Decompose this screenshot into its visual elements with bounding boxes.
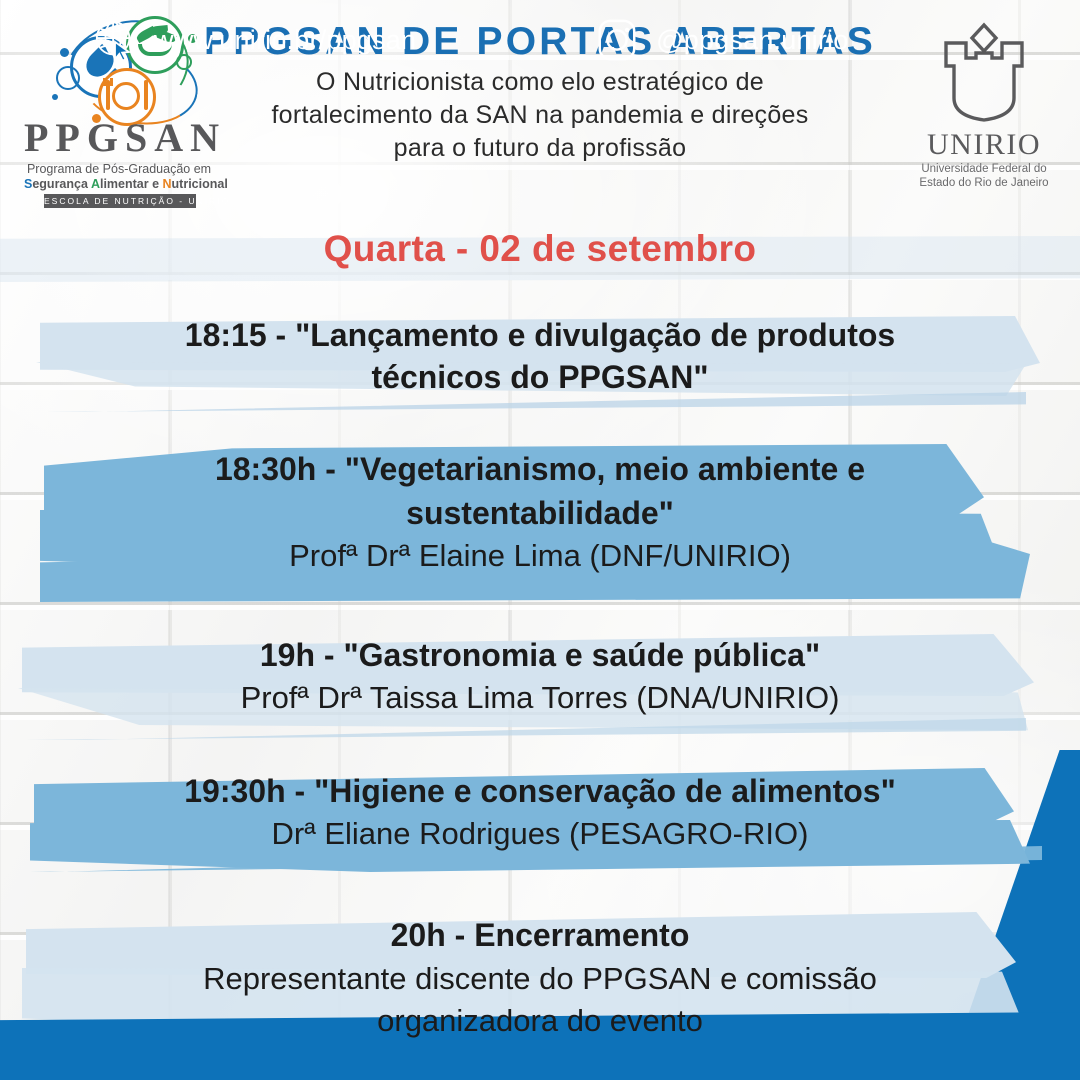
schedule-item-title-line-1: 18:30h - "Vegetarianismo, meio ambiente … bbox=[0, 448, 1080, 492]
decorative-circle-icon bbox=[56, 66, 80, 90]
schedule-item-title-line-2: sustentabilidade" bbox=[0, 492, 1080, 536]
globe-cursor-icon bbox=[92, 17, 138, 63]
fork-tines-icon bbox=[103, 78, 113, 86]
schedule-list: 18:15 - "Lançamento e divulgação de prod… bbox=[0, 300, 1080, 1052]
schedule-item-speaker: Profª Drª Elaine Lima (DNF/UNIRIO) bbox=[0, 535, 1080, 577]
ppgsan-logo-subtitle-2: Segurança Alimentar e Nutricional bbox=[24, 177, 214, 191]
schedule-item-title-line-2: técnicos do PPGSAN" bbox=[0, 356, 1080, 398]
schedule-item-text: 19:30h - "Higiene e conservação de alime… bbox=[0, 762, 1080, 854]
event-poster: PPGSAN Programa de Pós-Graduação em Segu… bbox=[0, 0, 1080, 1080]
page-subtitle-line-2: fortalecimento da SAN na pandemia e dire… bbox=[185, 99, 895, 132]
schedule-item-title-line-1: 19:30h - "Higiene e conservação de alime… bbox=[0, 770, 1080, 813]
schedule-item: 19:30h - "Higiene e conservação de alime… bbox=[0, 762, 1080, 882]
schedule-item-speaker: Drª Eliane Rodrigues (PESAGRO-RIO) bbox=[0, 813, 1080, 855]
schedule-item-speaker-line-2: organizadora do evento bbox=[0, 1000, 1080, 1042]
page-subtitle: O Nutricionista como elo estratégico de … bbox=[185, 66, 895, 165]
schedule-item-text: 20h - Encerramento Representante discent… bbox=[0, 902, 1080, 1042]
unirio-logo-subtitle: Universidade Federal do Estado do Rio de… bbox=[904, 162, 1064, 191]
schedule-item-title-line-1: 20h - Encerramento bbox=[0, 914, 1080, 958]
plate-icon bbox=[112, 82, 140, 110]
schedule-item-speaker: Profª Drª Taissa Lima Torres (DNA/UNIRIO… bbox=[0, 677, 1080, 719]
schedule-item: 19h - "Gastronomia e saúde pública" Prof… bbox=[0, 626, 1080, 748]
knife-icon bbox=[144, 80, 148, 110]
schedule-item: 18:30h - "Vegetarianismo, meio ambiente … bbox=[0, 434, 1080, 602]
footer-contacts: www.unirio.br/ppgsan @ppgsan.unirio bbox=[0, 12, 1080, 68]
schedule-item-text: 19h - "Gastronomia e saúde pública" Prof… bbox=[0, 626, 1080, 718]
page-subtitle-line-1: O Nutricionista como elo estratégico de bbox=[185, 66, 895, 99]
schedule-item: 18:15 - "Lançamento e divulgação de prod… bbox=[0, 300, 1080, 418]
schedule-item-text: 18:30h - "Vegetarianismo, meio ambiente … bbox=[0, 434, 1080, 577]
schedule-item-text: 18:15 - "Lançamento e divulgação de prod… bbox=[0, 300, 1080, 398]
instagram-icon bbox=[594, 17, 640, 63]
schedule-item-speaker-line-1: Representante discente do PPGSAN e comis… bbox=[0, 958, 1080, 1000]
instagram-handle: @ppgsan.unirio bbox=[656, 25, 848, 56]
event-date: Quarta - 02 de setembro bbox=[0, 228, 1080, 270]
ppgsan-logo-badge: ESCOLA DE NUTRIÇÃO - UNIRIO bbox=[44, 194, 196, 208]
instagram-contact[interactable]: @ppgsan.unirio bbox=[594, 17, 848, 63]
website-url: www.unirio.br/ppgsan bbox=[154, 25, 416, 56]
schedule-item: 20h - Encerramento Representante discent… bbox=[0, 902, 1080, 1052]
unirio-logo-subtitle-1: Universidade Federal do bbox=[904, 162, 1064, 176]
website-contact[interactable]: www.unirio.br/ppgsan bbox=[92, 17, 416, 63]
schedule-item-title-line-1: 19h - "Gastronomia e saúde pública" bbox=[0, 634, 1080, 677]
schedule-item-title-line-1: 18:15 - "Lançamento e divulgação de prod… bbox=[0, 314, 1080, 356]
page-subtitle-line-3: para o futuro da profissão bbox=[185, 132, 895, 165]
decorative-dot-icon bbox=[52, 94, 58, 100]
unirio-logo-subtitle-2: Estado do Rio de Janeiro bbox=[904, 176, 1064, 190]
unirio-wordmark: UNIRIO bbox=[904, 130, 1064, 160]
